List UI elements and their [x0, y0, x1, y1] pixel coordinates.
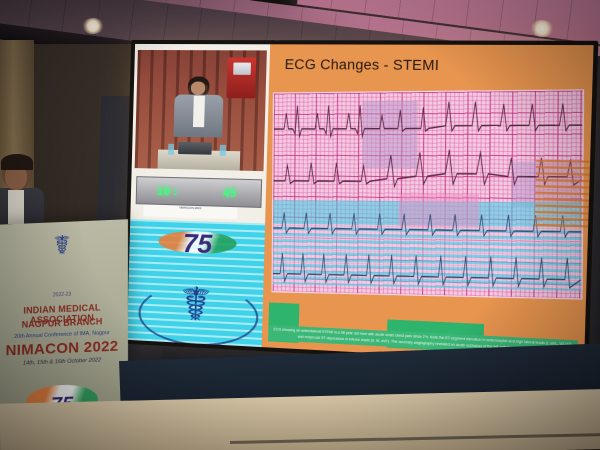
timer-minutes: 10 — [157, 185, 171, 196]
speaker-face — [191, 81, 206, 94]
led-display-surface: 10 : 45 NIMACON 2022 75 ☤ — [127, 44, 594, 364]
laptop-icon — [178, 142, 212, 155]
logo-75-text: 75 — [158, 224, 237, 264]
slide-scanline-artifact — [534, 159, 590, 230]
countdown-timer: 10 : 45 — [136, 176, 263, 208]
podium-year: 2022-23 — [0, 289, 128, 301]
speaker-collar — [8, 190, 24, 224]
ecg-trace-row-1 — [273, 93, 582, 147]
live-speaker-camera-feed — [134, 50, 267, 172]
led-video-wall: 10 : 45 NIMACON 2022 75 ☤ — [127, 44, 594, 364]
conference-hall-photo: 10 : 45 NIMACON 2022 75 ☤ — [0, 0, 600, 450]
led-left-column: 10 : 45 NIMACON 2022 75 ☤ — [127, 44, 270, 347]
timer-nameplate: NIMACON 2022 — [144, 204, 238, 219]
spotlight-3 — [530, 20, 554, 37]
presentation-slide: ECG Changes - STEMI — [261, 44, 593, 364]
amrit-mahotsav-logo: 75 — [158, 224, 237, 264]
timer-separator: : — [172, 186, 179, 197]
timer-seconds: 45 — [223, 187, 237, 199]
water-bottle-icon — [168, 144, 175, 155]
flag-emblem — [233, 62, 250, 74]
water-bottle-icon-2 — [219, 145, 226, 156]
speaker-shirt — [193, 96, 205, 127]
speaker-hair — [1, 154, 33, 170]
spotlight-1 — [82, 18, 104, 34]
ima-emblem-icon: ☤ — [53, 230, 70, 262]
ecg-trace-row-4 — [272, 240, 581, 299]
led-logo-panel: 75 ☤ — [127, 219, 265, 347]
slide-title: ECG Changes - STEMI — [284, 56, 439, 73]
